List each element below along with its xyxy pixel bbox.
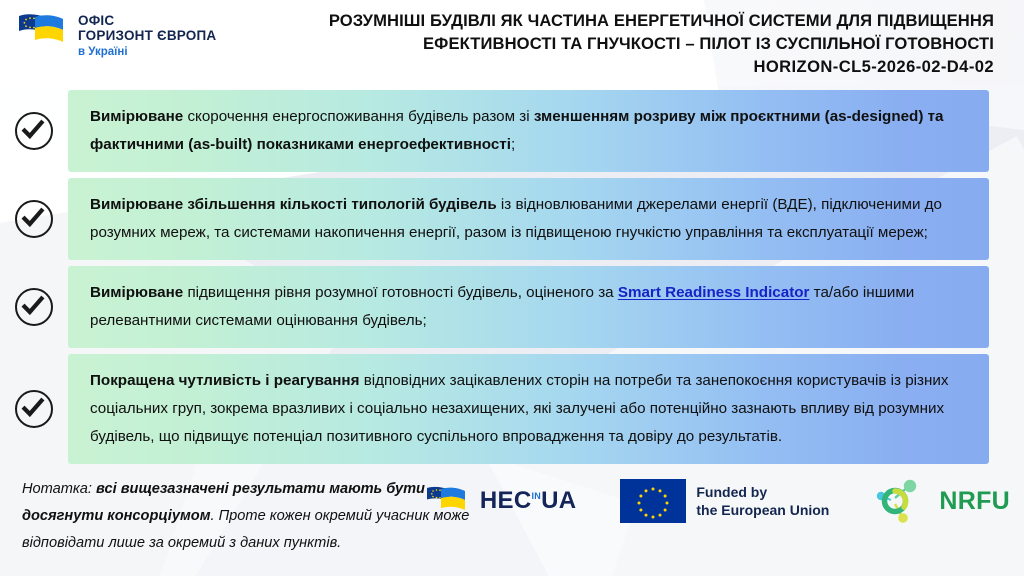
outcome-text-box: Покращена чутливість і реагування відпов… xyxy=(68,354,989,464)
eu-flag-icon xyxy=(620,479,686,523)
title-topic-code: HORIZON-CL5-2026-02-D4-02 xyxy=(232,55,994,78)
text-bold: Вимірюване xyxy=(90,108,187,125)
outcome-item: Вимірюване підвищення рівня розумної гот… xyxy=(0,266,1024,348)
outcome-text-box: Вимірюване збільшення кількості типологі… xyxy=(68,178,989,260)
text-bold: Вимірюване збільшення кількості типологі… xyxy=(90,196,501,213)
text-normal: підвищення рівня розумної готовності буд… xyxy=(187,284,617,301)
eu-ukraine-flags-icon xyxy=(426,484,470,518)
text-normal: ; xyxy=(511,136,515,153)
text-normal: Нотатка: xyxy=(22,481,96,497)
title-line-1: РОЗУМНІШІ БУДІВЛІ ЯК ЧАСТИНА ЕНЕРГЕТИЧНО… xyxy=(232,9,994,32)
nrfu-logo: NRFU xyxy=(873,478,1010,524)
logo-line-1: ОФІС xyxy=(78,13,216,28)
outcome-list: Вимірюване скорочення енергоспоживання б… xyxy=(0,90,1024,470)
header: ОФІС ГОРИЗОНТ ЄВРОПА в Україні РОЗУМНІШІ… xyxy=(0,0,1024,88)
slide: ОФІС ГОРИЗОНТ ЄВРОПА в Україні РОЗУМНІШІ… xyxy=(0,0,1024,576)
check-circle-icon xyxy=(0,288,68,326)
outcome-item: Вимірюване збільшення кількості типологі… xyxy=(0,178,1024,260)
horizon-europe-office-logo: ОФІС ГОРИЗОНТ ЄВРОПА в Україні xyxy=(0,0,232,60)
hec-ua-wordmark: HECINUA xyxy=(480,487,576,515)
outcome-text-box: Вимірюване скорочення енергоспоживання б… xyxy=(68,90,989,172)
funded-by-eu-logo: Funded by the European Union xyxy=(620,479,829,523)
funded-by-eu-text: Funded by the European Union xyxy=(696,483,829,519)
text-bold: Вимірюване xyxy=(90,284,187,301)
text-bold: Покращена чутливість і реагування xyxy=(90,372,364,389)
outcome-text: Вимірюване збільшення кількості типологі… xyxy=(90,191,971,247)
hec-ua-text-2: UA xyxy=(541,487,576,514)
smart-readiness-indicator-link[interactable]: Smart Readiness Indicator xyxy=(618,284,810,301)
page-title: РОЗУМНІШІ БУДІВЛІ ЯК ЧАСТИНА ЕНЕРГЕТИЧНО… xyxy=(232,0,1024,78)
check-circle-icon xyxy=(0,390,68,428)
text-normal: скорочення енергоспоживання будівель раз… xyxy=(187,108,533,125)
footer: Нотатка: всі вищезазначені результати ма… xyxy=(0,464,1024,576)
outcome-item: Покращена чутливість і реагування відпов… xyxy=(0,354,1024,464)
outcome-text-box: Вимірюване підвищення рівня розумної гот… xyxy=(68,266,989,348)
hec-ua-sup: IN xyxy=(531,491,541,501)
footer-note: Нотатка: всі вищезазначені результати ма… xyxy=(22,476,492,557)
check-circle-icon xyxy=(0,112,68,150)
funded-by-line-1: Funded by xyxy=(696,483,829,501)
outcome-text: Вимірюване підвищення рівня розумної гот… xyxy=(90,279,971,335)
footer-logos: HECINUA xyxy=(426,478,1010,524)
funded-by-line-2: the European Union xyxy=(696,501,829,519)
eu-ukraine-flags-icon xyxy=(17,11,69,51)
hec-ua-logo: HECINUA xyxy=(426,484,576,518)
outcome-text: Вимірюване скорочення енергоспоживання б… xyxy=(90,103,971,159)
nrfu-molecule-icon xyxy=(873,478,929,524)
hec-ua-text-1: HEC xyxy=(480,487,532,514)
logo-line-2: ГОРИЗОНТ ЄВРОПА xyxy=(78,28,216,43)
outcome-text: Покращена чутливість і реагування відпов… xyxy=(90,367,971,451)
title-line-2: ЕФЕКТИВНОСТІ ТА ГНУЧКОСТІ – ПІЛОТ ІЗ СУС… xyxy=(232,32,994,55)
check-circle-icon xyxy=(0,200,68,238)
nrfu-wordmark: NRFU xyxy=(939,487,1010,516)
logo-line-3: в Україні xyxy=(78,45,216,60)
outcome-item: Вимірюване скорочення енергоспоживання б… xyxy=(0,90,1024,172)
